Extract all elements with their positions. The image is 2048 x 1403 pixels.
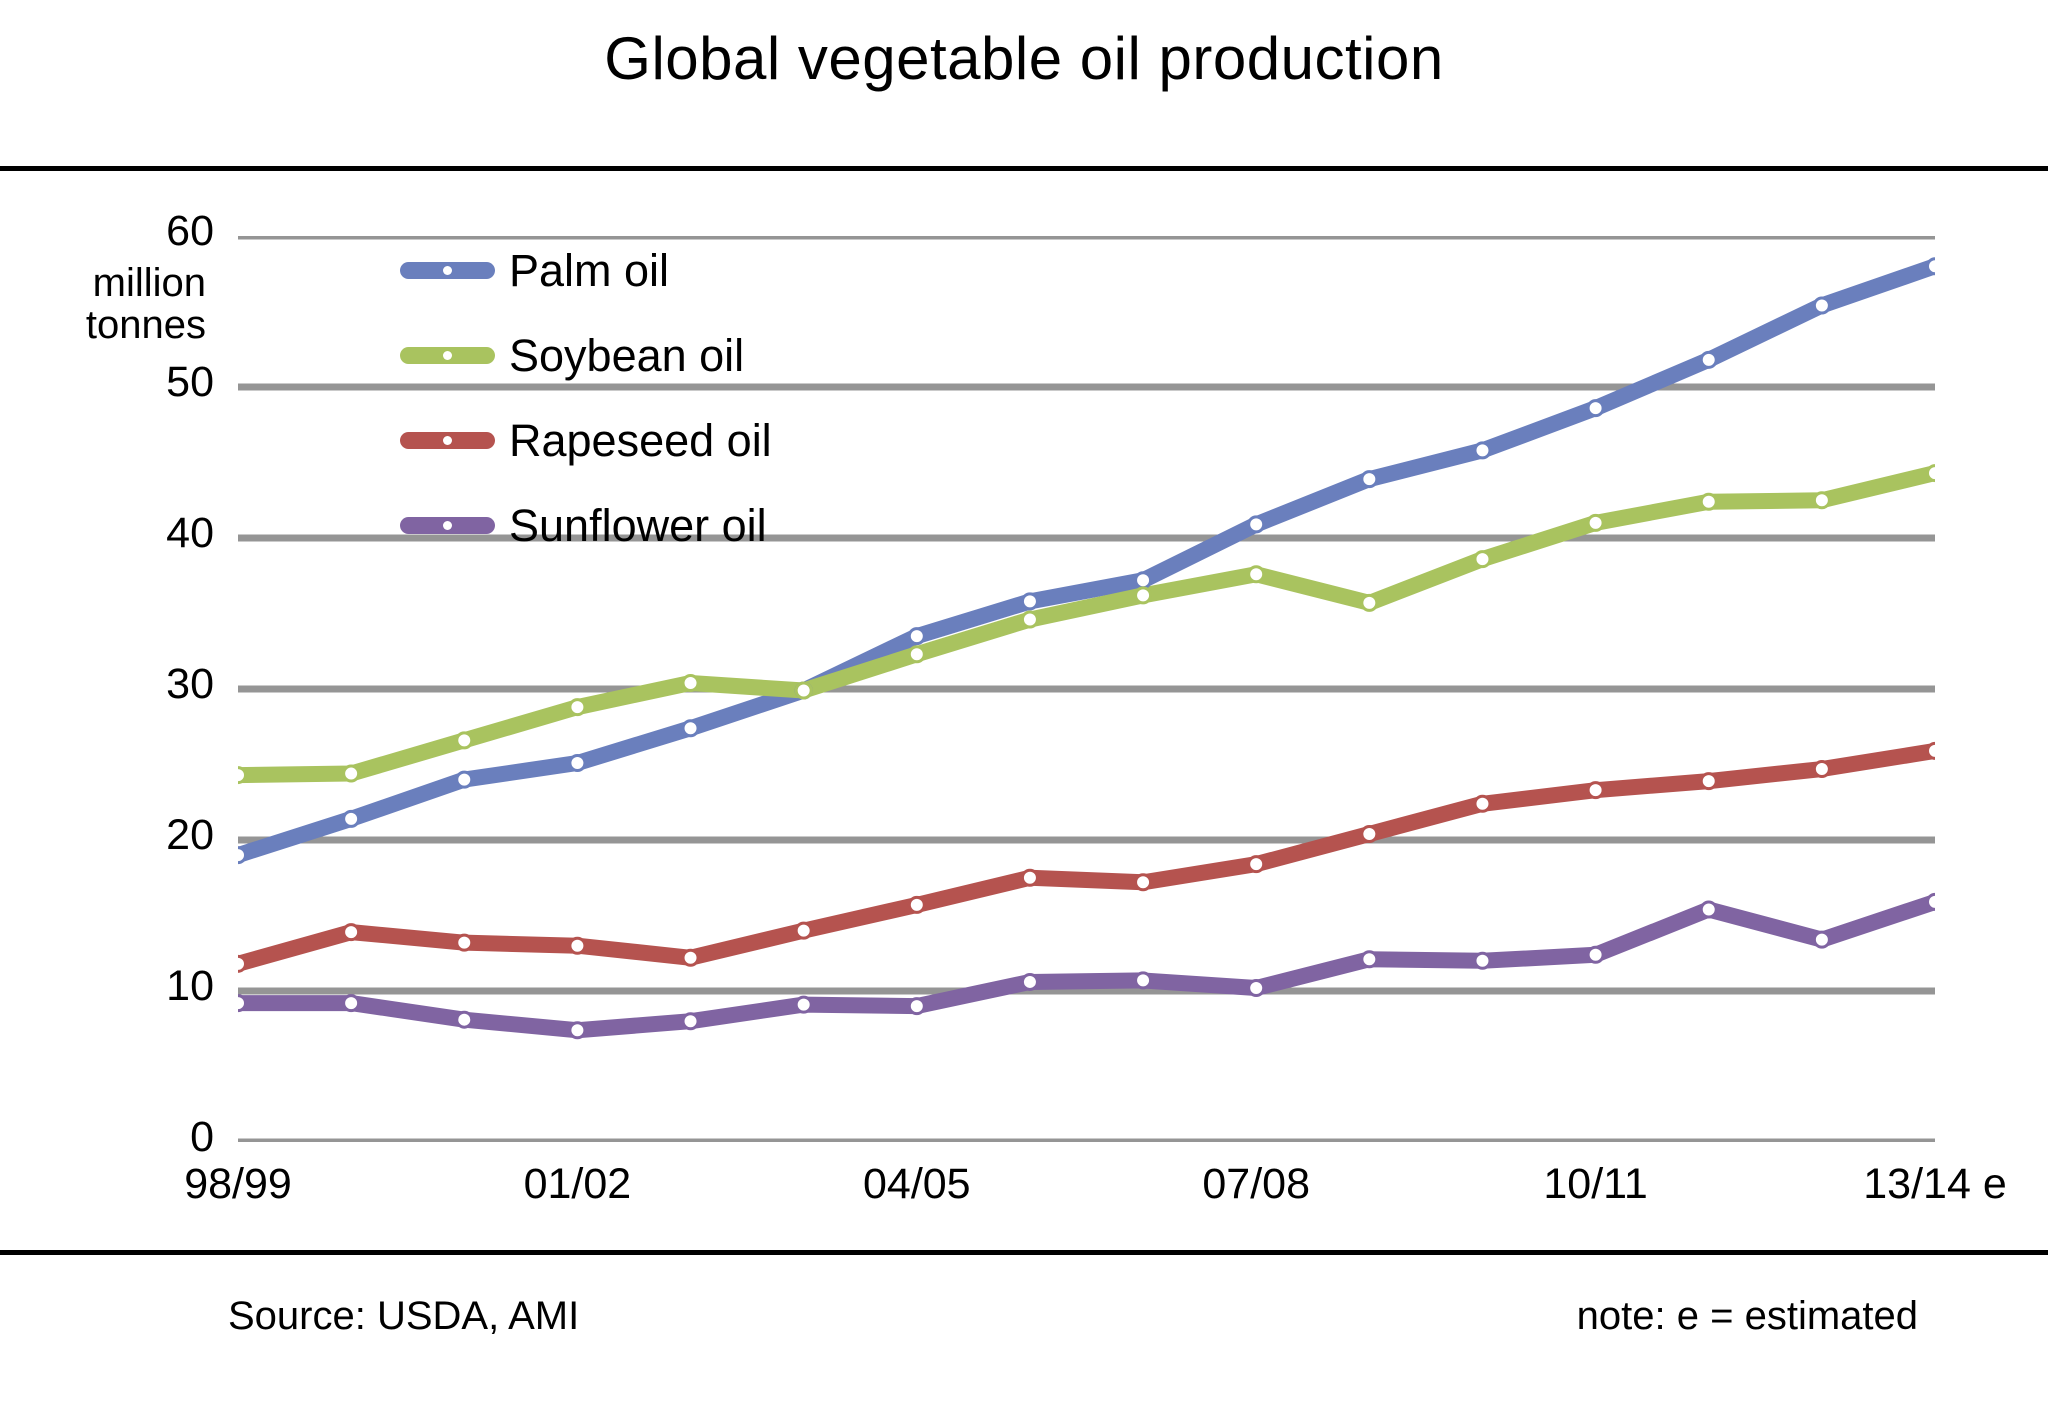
data-point bbox=[1362, 952, 1377, 967]
data-point bbox=[1249, 567, 1264, 582]
data-point bbox=[683, 675, 698, 690]
data-point bbox=[1362, 826, 1377, 841]
data-point bbox=[683, 1014, 698, 1029]
y-axis-caption-line1: million bbox=[16, 262, 206, 304]
x-axis: 98/9901/0204/0507/0810/1113/14 e bbox=[238, 1160, 1935, 1220]
y-tick-label: 10 bbox=[54, 965, 214, 1008]
data-point bbox=[796, 923, 811, 938]
data-point bbox=[1588, 515, 1603, 530]
data-point bbox=[796, 683, 811, 698]
legend-item-label: Soybean oil bbox=[509, 330, 744, 382]
data-point bbox=[238, 956, 246, 971]
data-point bbox=[1022, 594, 1037, 609]
data-point bbox=[1362, 595, 1377, 610]
data-point bbox=[1701, 352, 1716, 367]
legend-swatch-icon bbox=[400, 517, 495, 534]
data-point bbox=[1136, 973, 1151, 988]
y-axis-caption-line2: tonnes bbox=[16, 304, 206, 346]
data-point bbox=[1928, 259, 1936, 274]
legend-item-label: Rapeseed oil bbox=[509, 415, 772, 467]
data-point bbox=[1701, 774, 1716, 789]
legend-item-label: Sunflower oil bbox=[509, 500, 767, 552]
data-point bbox=[1928, 466, 1936, 481]
x-tick-label: 13/14 e bbox=[1863, 1160, 2006, 1209]
data-point bbox=[344, 811, 359, 826]
y-tick-label: 0 bbox=[54, 1116, 214, 1159]
estimate-note: note: e = estimated bbox=[1577, 1294, 1918, 1339]
data-point bbox=[238, 848, 246, 863]
data-point bbox=[570, 755, 585, 770]
data-point bbox=[1022, 612, 1037, 627]
legend-item-soybean-oil[interactable]: Soybean oil bbox=[400, 313, 960, 398]
data-point bbox=[1136, 588, 1151, 603]
y-axis-caption: milliontonnes bbox=[16, 262, 206, 347]
data-point bbox=[1475, 953, 1490, 968]
data-point bbox=[1022, 870, 1037, 885]
data-point bbox=[1022, 974, 1037, 989]
source-note: Source: USDA, AMI bbox=[228, 1294, 579, 1339]
data-point bbox=[1701, 494, 1716, 509]
data-point bbox=[344, 996, 359, 1011]
x-tick-label: 10/11 bbox=[1543, 1160, 1647, 1209]
chart-page: Global vegetable oil production 01020304… bbox=[0, 0, 2048, 1403]
header-divider bbox=[0, 166, 2048, 171]
data-point bbox=[344, 925, 359, 940]
data-point bbox=[1588, 783, 1603, 798]
legend-item-sunflower-oil[interactable]: Sunflower oil bbox=[400, 483, 960, 568]
data-point bbox=[1814, 493, 1829, 508]
data-point bbox=[457, 1012, 472, 1027]
data-point bbox=[570, 1023, 585, 1038]
data-point bbox=[909, 999, 924, 1014]
y-tick-label: 20 bbox=[54, 814, 214, 857]
data-point bbox=[457, 935, 472, 950]
series-line bbox=[238, 902, 1935, 1030]
data-point bbox=[238, 996, 246, 1011]
data-point bbox=[570, 700, 585, 715]
x-tick-label: 07/08 bbox=[1202, 1160, 1310, 1209]
legend-swatch-icon bbox=[400, 347, 495, 364]
y-tick-label: 50 bbox=[54, 361, 214, 404]
legend-item-rapeseed-oil[interactable]: Rapeseed oil bbox=[400, 398, 960, 483]
legend-item-palm-oil[interactable]: Palm oil bbox=[400, 228, 960, 313]
data-point bbox=[457, 733, 472, 748]
legend-item-label: Palm oil bbox=[509, 245, 669, 297]
footer-divider bbox=[0, 1250, 2048, 1255]
data-point bbox=[1249, 517, 1264, 532]
data-point bbox=[1588, 401, 1603, 416]
data-point bbox=[1475, 552, 1490, 567]
y-tick-label: 60 bbox=[54, 210, 214, 253]
data-point bbox=[909, 897, 924, 912]
data-point bbox=[683, 721, 698, 736]
x-tick-label: 04/05 bbox=[863, 1160, 971, 1209]
data-point bbox=[909, 629, 924, 644]
data-point bbox=[1475, 796, 1490, 811]
x-tick-label: 98/99 bbox=[184, 1160, 292, 1209]
data-point bbox=[457, 772, 472, 787]
data-point bbox=[1475, 443, 1490, 458]
page-title: Global vegetable oil production bbox=[0, 24, 2048, 93]
data-point bbox=[796, 997, 811, 1012]
y-tick-label: 40 bbox=[54, 512, 214, 555]
data-point bbox=[1362, 472, 1377, 487]
data-point bbox=[683, 950, 698, 965]
data-point bbox=[1136, 573, 1151, 588]
data-point bbox=[344, 766, 359, 781]
y-tick-label: 30 bbox=[54, 663, 214, 706]
data-point bbox=[1249, 980, 1264, 995]
data-point bbox=[1136, 875, 1151, 890]
legend-swatch-icon bbox=[400, 432, 495, 449]
data-point bbox=[1814, 762, 1829, 777]
data-point bbox=[1249, 857, 1264, 872]
data-point bbox=[1928, 894, 1936, 909]
data-point bbox=[570, 938, 585, 953]
legend-swatch-icon bbox=[400, 262, 495, 279]
data-point bbox=[1814, 932, 1829, 947]
data-point bbox=[909, 647, 924, 662]
data-point bbox=[1928, 743, 1936, 758]
data-point bbox=[238, 768, 246, 783]
data-point bbox=[1814, 298, 1829, 313]
x-tick-label: 01/02 bbox=[524, 1160, 632, 1209]
data-point bbox=[1701, 902, 1716, 917]
chart-legend: Palm oilSoybean oilRapeseed oilSunflower… bbox=[400, 228, 960, 568]
data-point bbox=[1588, 947, 1603, 962]
